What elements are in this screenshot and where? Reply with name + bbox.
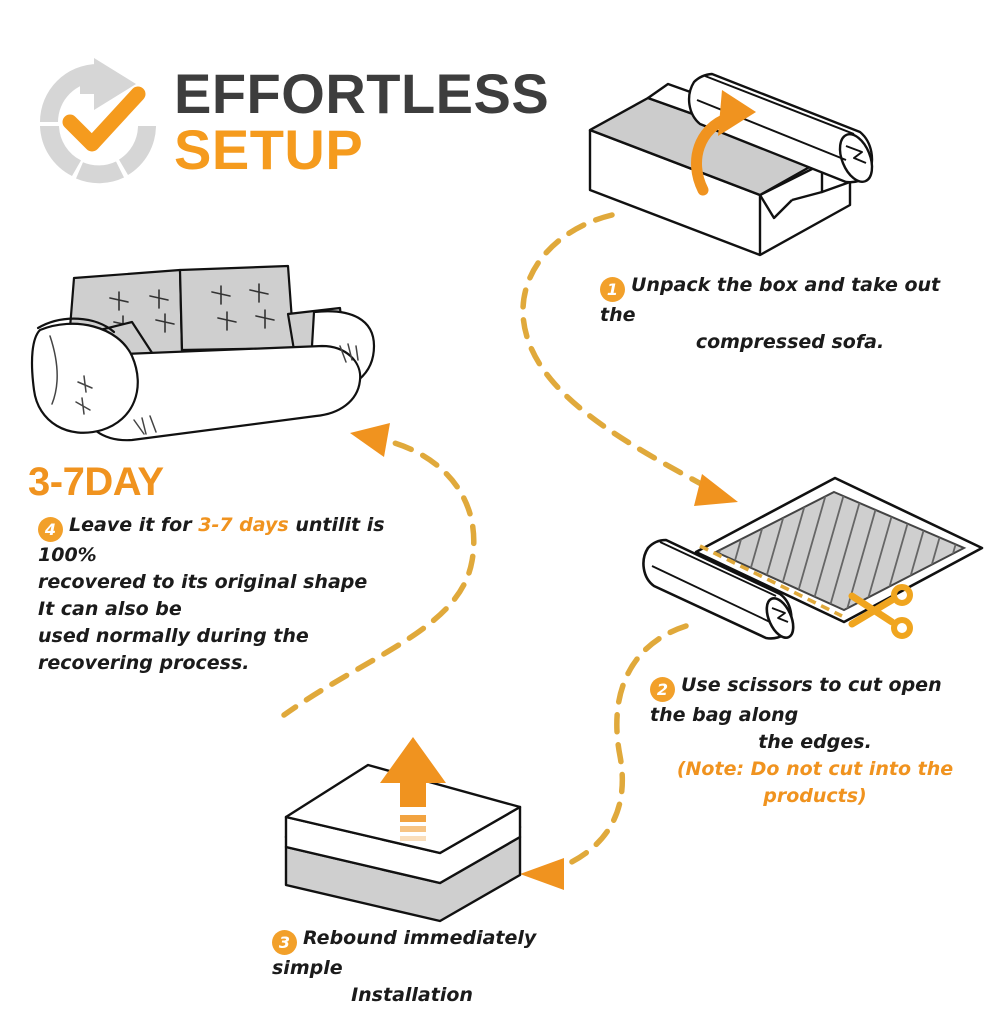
step-3-line1: Rebound immediately simple xyxy=(272,927,536,979)
step-badge-1: 1 xyxy=(600,277,625,302)
step-1-line1: Unpack the box and take out the xyxy=(600,274,940,326)
step-4-line2: recovered to its original shape It can a… xyxy=(38,569,388,623)
page-title-line2: SETUP xyxy=(174,124,549,176)
step-4-line1-pre: Leave it for xyxy=(69,514,198,536)
header-titles: EFFORTLESS SETUP xyxy=(174,68,549,175)
step-badge-4: 4 xyxy=(38,517,63,542)
circular-arrow-check-icon xyxy=(28,52,168,192)
header: EFFORTLESS SETUP xyxy=(28,52,549,192)
page-title-line1: EFFORTLESS xyxy=(174,68,549,120)
step-3-text: 3Rebound immediately simple Installation xyxy=(272,925,552,1009)
step-1-text: 1Unpack the box and take out the compres… xyxy=(600,272,980,356)
step-badge-3: 3 xyxy=(272,930,297,955)
day-heading: 3-7DAY xyxy=(28,460,164,505)
step-4-highlight: 3-7 days xyxy=(198,514,288,536)
diagram-canvas: EFFORTLESS SETUP xyxy=(0,0,1000,1000)
step-4-line3: used normally during the recovering proc… xyxy=(38,623,388,677)
step-1-line2: compressed sofa. xyxy=(600,329,980,356)
step-3-line2: Installation xyxy=(272,982,552,1009)
expanded-sofa-illustration xyxy=(22,250,417,455)
step-4-text: 4Leave it for 3-7 days untilit is 100% r… xyxy=(38,512,388,677)
mattress-rebound-illustration xyxy=(268,725,568,925)
